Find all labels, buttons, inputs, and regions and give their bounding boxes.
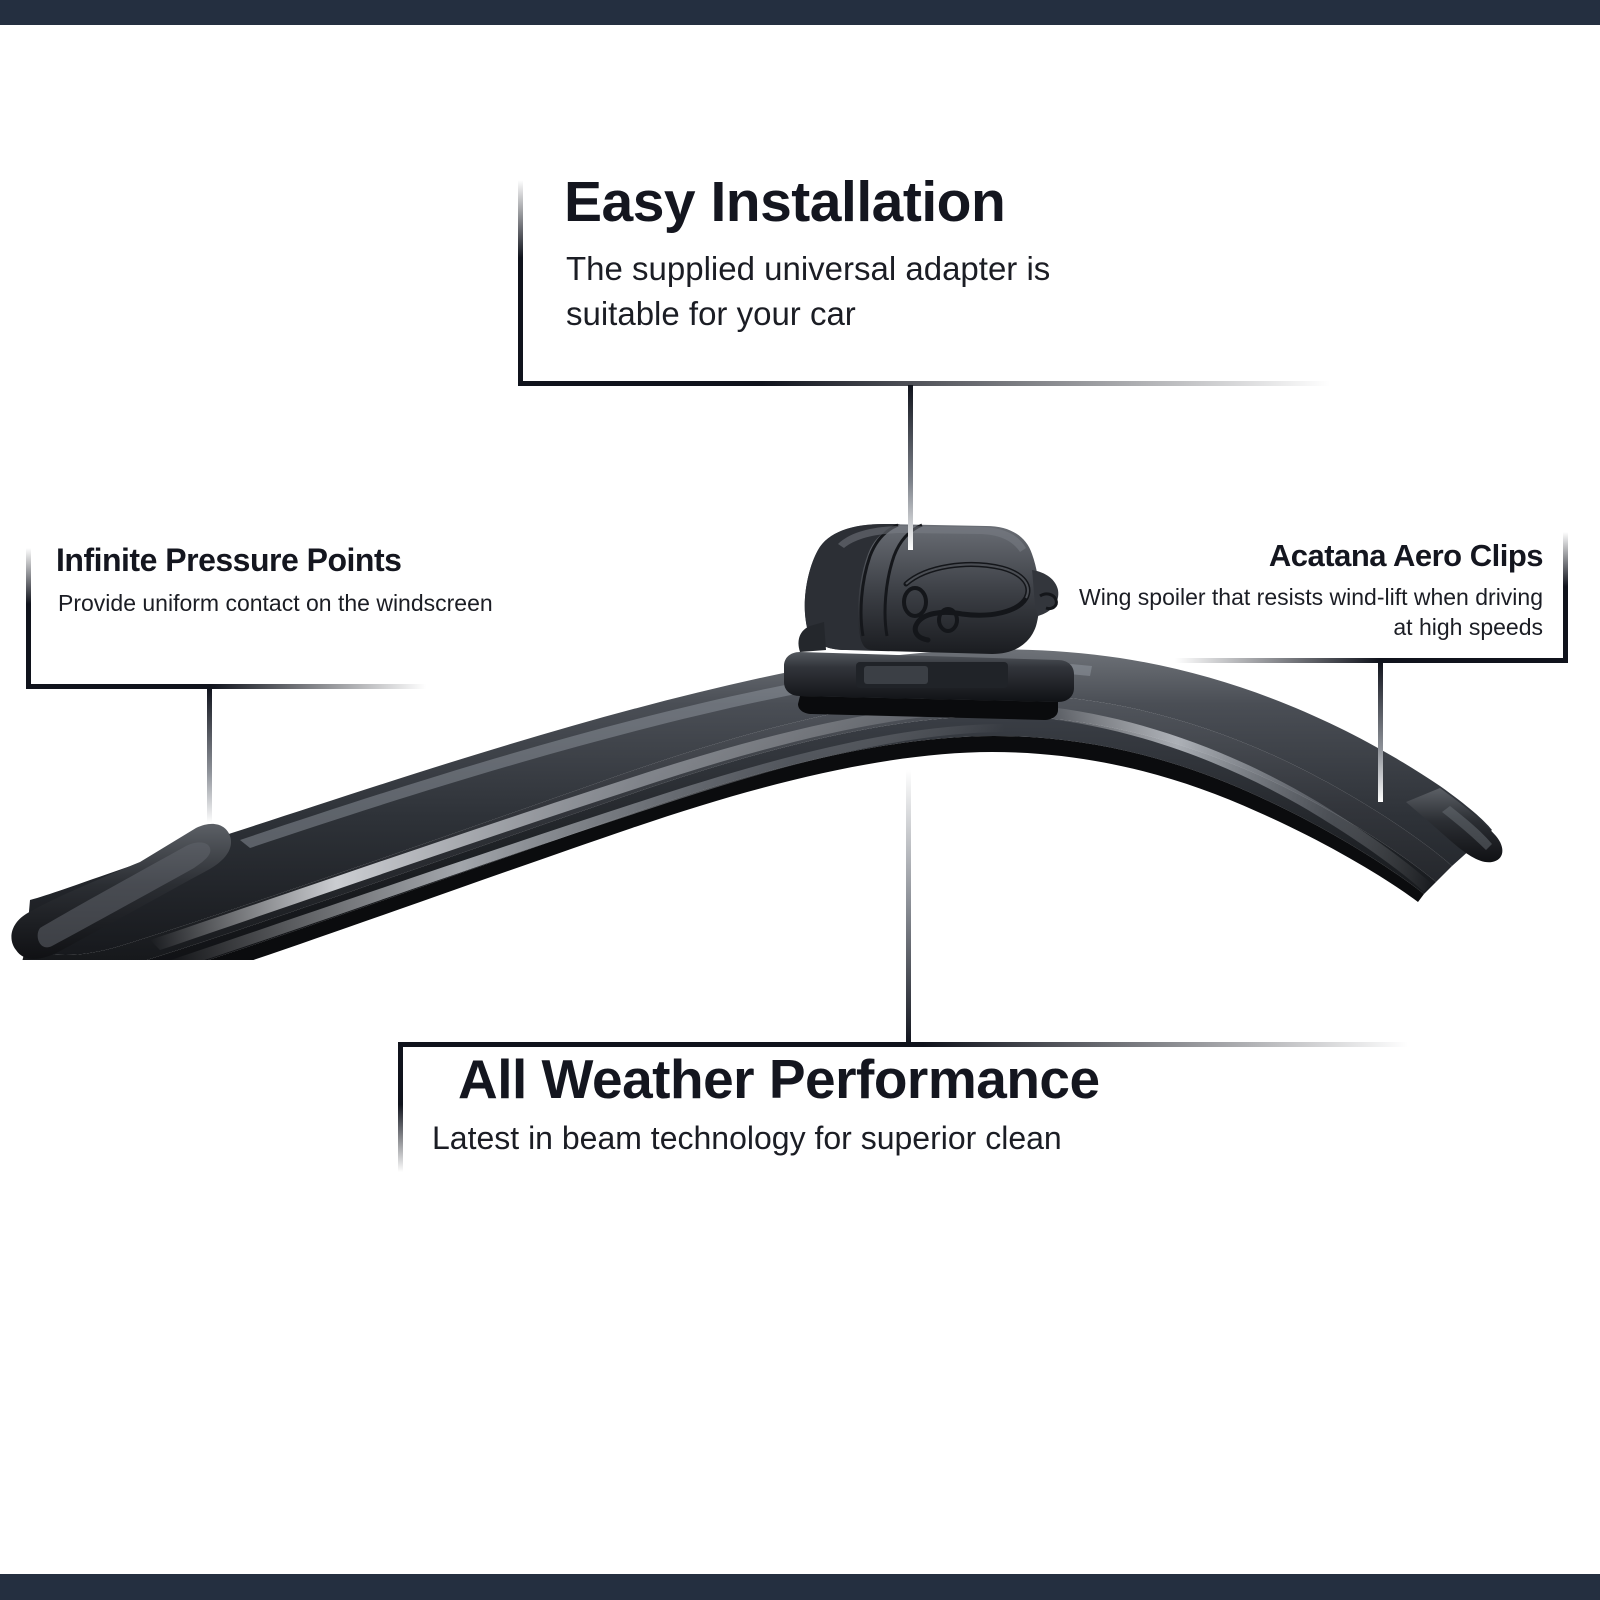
callout-heading-all-weather-performance: All Weather Performance xyxy=(400,1046,1300,1112)
callout-heading-acatana-aero-clips: Acatana Aero Clips xyxy=(1065,536,1555,576)
callout-leader-acatana-aero-clips xyxy=(1378,662,1383,802)
callout-subtext-easy-installation: The supplied universal adapter is suitab… xyxy=(520,236,1160,336)
callout-heading-easy-installation: Easy Installation xyxy=(520,168,1160,236)
callout-leader-all-weather-performance xyxy=(906,770,911,1045)
callout-line-acatana-aero-clips-horizontal xyxy=(1175,658,1568,663)
top-accent-bar xyxy=(0,0,1600,25)
bottom-accent-bar xyxy=(0,1574,1600,1600)
callout-line-acatana-aero-clips-vertical xyxy=(1563,532,1568,662)
callout-leader-easy-installation xyxy=(908,385,913,550)
callout-infinite-pressure-points: Infinite Pressure Points Provide uniform… xyxy=(28,540,528,619)
callout-easy-installation: Easy Installation The supplied universal… xyxy=(520,168,1160,336)
callout-subtext-acatana-aero-clips: Wing spoiler that resists wind-lift when… xyxy=(1065,576,1555,642)
callout-line-infinite-pressure-points-horizontal xyxy=(26,684,426,689)
callout-all-weather-performance: All Weather Performance Latest in beam t… xyxy=(400,1046,1300,1160)
callout-subtext-all-weather-performance: Latest in beam technology for superior c… xyxy=(400,1112,1300,1160)
infographic-page: Easy Installation The supplied universal… xyxy=(0,0,1600,1600)
callout-heading-infinite-pressure-points: Infinite Pressure Points xyxy=(28,540,528,580)
callout-acatana-aero-clips: Acatana Aero Clips Wing spoiler that res… xyxy=(1065,536,1555,642)
callout-line-easy-installation-horizontal xyxy=(518,381,1330,386)
callout-leader-infinite-pressure-points xyxy=(207,688,212,823)
callout-subtext-infinite-pressure-points: Provide uniform contact on the windscree… xyxy=(28,580,528,619)
